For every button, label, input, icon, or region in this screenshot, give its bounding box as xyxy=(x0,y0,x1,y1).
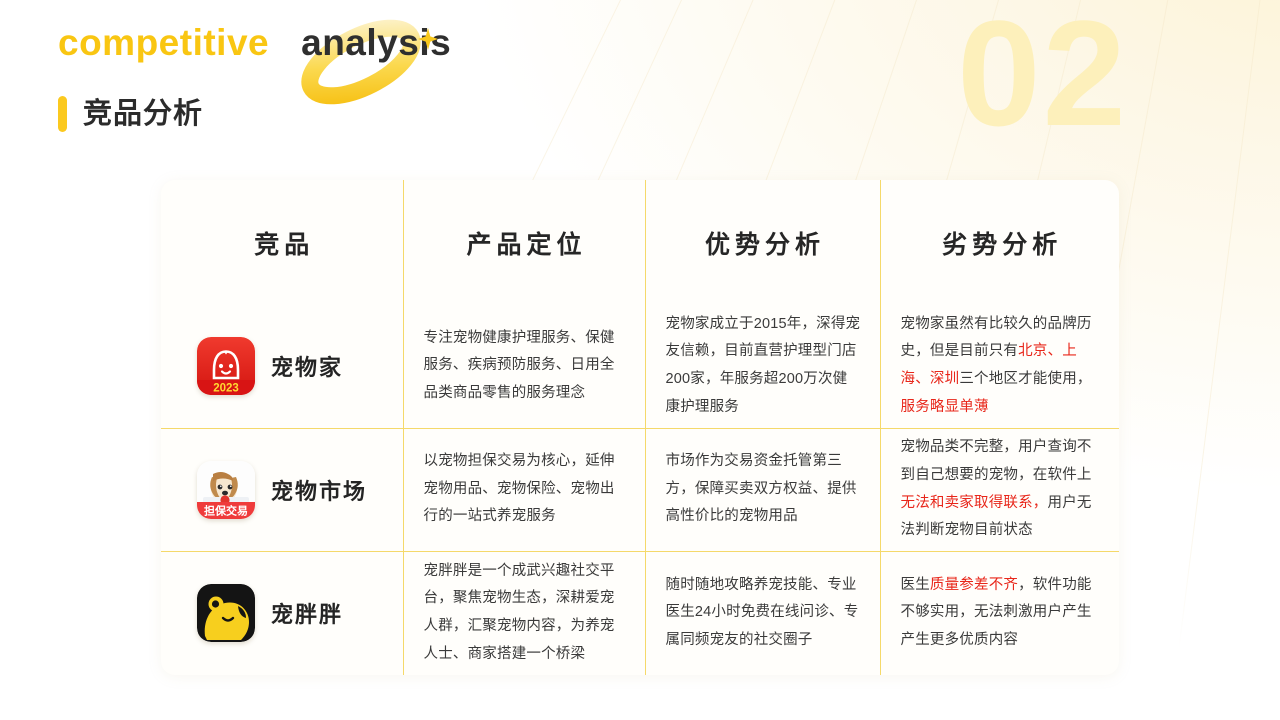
plain-phrase: 医生 xyxy=(901,577,930,593)
pet-home-app-icon: 2023 xyxy=(197,337,255,395)
cell-advantages: 宠物家成立于2015年，深得宠友信赖，目前直营护理型门店200家，年服务超200… xyxy=(645,305,880,428)
chong-pang-pang-app-icon[interactable] xyxy=(197,584,255,642)
cell-competitor: 2023 宠物家 xyxy=(161,305,403,428)
positioning-text: 专注宠物健康护理服务、保健服务、疾病预防服务、日用全品类商品零售的服务理念 xyxy=(404,325,645,408)
disadvantages-text: 医生质量参差不齐，软件功能不够实用，无法刺激用户产生产生更多优质内容 xyxy=(881,572,1120,655)
eyebrow-word-competitive: competitive xyxy=(58,22,269,63)
positioning-text: 宠胖胖是一个成武兴趣社交平台，聚焦宠物生态，深耕爱宠人群，汇聚宠物内容，为养宠人… xyxy=(404,558,645,669)
table-row: 宠胖胖宠胖胖是一个成武兴趣社交平台，聚焦宠物生态，深耕爱宠人群，汇聚宠物内容，为… xyxy=(161,551,1119,675)
column-header-positioning: 产品定位 xyxy=(403,180,645,305)
cell-positioning: 以宠物担保交易为核心，延伸宠物用品、宠物保险、宠物出行的一站式养宠服务 xyxy=(403,428,645,551)
section-number: 02 xyxy=(957,0,1128,148)
chong-pang-pang-app-icon xyxy=(197,584,255,642)
table-body: 2023 宠物家专注宠物健康护理服务、保健服务、疾病预防服务、日用全品类商品零售… xyxy=(161,305,1119,675)
table-header: 竞品 产品定位 优势分析 劣势分析 xyxy=(161,180,1119,305)
cell-competitor: 宠胖胖 xyxy=(161,551,403,675)
competitor-identity: 2023 宠物家 xyxy=(161,337,403,395)
competitor-name: 宠物家 xyxy=(271,350,343,382)
table-row: 2023 宠物家专注宠物健康护理服务、保健服务、疾病预防服务、日用全品类商品零售… xyxy=(161,305,1119,428)
disadvantages-text: 宠物品类不完整，用户查询不到自己想要的宠物，在软件上无法和卖家取得联系，用户无法… xyxy=(881,434,1120,545)
plain-phrase: 宠物品类不完整，用户查询不到自己想要的宠物，在软件上 xyxy=(901,439,1092,483)
plain-phrase: 三个地区才能使用， xyxy=(959,371,1091,387)
cell-disadvantages: 宠物品类不完整，用户查询不到自己想要的宠物，在软件上无法和卖家取得联系，用户无法… xyxy=(880,428,1119,551)
advantages-text: 市场作为交易资金托管第三方，保障买卖双方权益、提供高性价比的宠物用品 xyxy=(646,448,880,531)
highlighted-phrase: 质量参差不齐 xyxy=(930,577,1018,593)
table-row: 担保交易 宠物市场以宠物担保交易为核心，延伸宠物用品、宠物保险、宠物出行的一站式… xyxy=(161,428,1119,551)
svg-text:2023: 2023 xyxy=(213,383,239,395)
pet-market-app-icon[interactable]: 担保交易 xyxy=(197,461,255,519)
table-header-row: 竞品 产品定位 优势分析 劣势分析 xyxy=(161,180,1119,305)
competitor-name: 宠胖胖 xyxy=(271,597,343,629)
highlighted-phrase: 无法和卖家取得联系， xyxy=(901,495,1048,511)
slide-heading: competitiveanalysis 竞品分析 xyxy=(58,24,678,144)
pet-home-app-icon[interactable]: 2023 xyxy=(197,337,255,395)
advantages-text: 宠物家成立于2015年，深得宠友信赖，目前直营护理型门店200家，年服务超200… xyxy=(646,311,880,422)
advantages-text: 随时随地攻略养宠技能、专业医生24小时免费在线问诊、专属同频宠友的社交圈子 xyxy=(646,572,880,655)
competitor-table-card: 竞品 产品定位 优势分析 劣势分析 2023 宠物家专注宠 xyxy=(161,180,1119,675)
cell-positioning: 宠胖胖是一个成武兴趣社交平台，聚焦宠物生态，深耕爱宠人群，汇聚宠物内容，为养宠人… xyxy=(403,551,645,675)
eyebrow-title: competitiveanalysis xyxy=(58,24,678,61)
pet-market-app-icon: 担保交易 xyxy=(197,461,255,519)
cell-advantages: 市场作为交易资金托管第三方，保障买卖双方权益、提供高性价比的宠物用品 xyxy=(645,428,880,551)
sparkle-icon xyxy=(418,28,438,50)
cell-disadvantages: 宠物家虽然有比较久的品牌历史，但是目前只有北京、上海、深圳三个地区才能使用，服务… xyxy=(880,305,1119,428)
column-header-disadvantages: 劣势分析 xyxy=(880,180,1119,305)
slide-canvas: 02 competitiveanalysis 竞品分析 xyxy=(0,0,1280,720)
cell-competitor: 担保交易 宠物市场 xyxy=(161,428,403,551)
page-title-text: 竞品分析 xyxy=(83,100,203,129)
cell-disadvantages: 医生质量参差不齐，软件功能不够实用，无法刺激用户产生产生更多优质内容 xyxy=(880,551,1119,675)
page-title: 竞品分析 xyxy=(58,96,203,132)
disadvantages-text: 宠物家虽然有比较久的品牌历史，但是目前只有北京、上海、深圳三个地区才能使用，服务… xyxy=(881,311,1120,422)
column-header-competitor: 竞品 xyxy=(161,180,403,305)
cell-positioning: 专注宠物健康护理服务、保健服务、疾病预防服务、日用全品类商品零售的服务理念 xyxy=(403,305,645,428)
competitor-table: 竞品 产品定位 优势分析 劣势分析 2023 宠物家专注宠 xyxy=(161,180,1119,675)
svg-text:担保交易: 担保交易 xyxy=(204,503,248,517)
competitor-name: 宠物市场 xyxy=(271,474,367,506)
competitor-identity: 担保交易 宠物市场 xyxy=(161,461,403,519)
title-accent-bar xyxy=(58,96,67,132)
highlighted-phrase: 服务略显单薄 xyxy=(901,399,989,415)
cell-advantages: 随时随地攻略养宠技能、专业医生24小时免费在线问诊、专属同频宠友的社交圈子 xyxy=(645,551,880,675)
competitor-identity: 宠胖胖 xyxy=(161,584,403,642)
column-header-advantages: 优势分析 xyxy=(645,180,880,305)
positioning-text: 以宠物担保交易为核心，延伸宠物用品、宠物保险、宠物出行的一站式养宠服务 xyxy=(404,448,645,531)
